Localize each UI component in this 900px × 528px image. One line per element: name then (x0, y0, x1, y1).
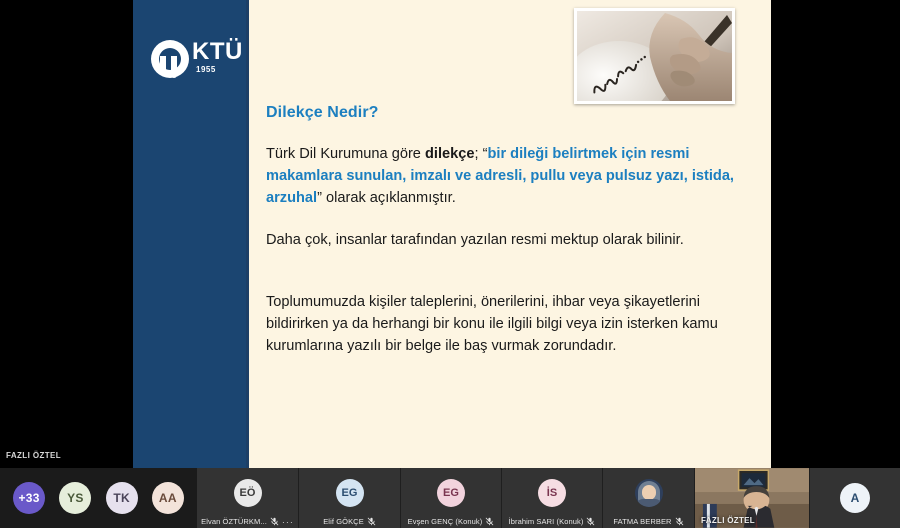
share-presenter-label: FAZLI ÖZTEL (6, 451, 61, 460)
participant-tile-footer: FATMA BERBER (603, 517, 694, 526)
participant-initials-avatar: EÖ (234, 479, 262, 507)
slide-paragraph-1: Türk Dil Kurumuna göre dilekçe; “bir dil… (266, 143, 736, 209)
participant-name: İbrahim SARI (Konuk) (509, 517, 584, 526)
participant-video-tile-fazli-oztel[interactable]: FAZLI ÖZTEL (695, 468, 810, 528)
ktu-logo-icon (151, 40, 189, 78)
ktu-logo-text: KTÜ (192, 38, 243, 66)
participant-tile-trailing[interactable]: A (810, 468, 900, 528)
mic-muted-icon[interactable] (586, 517, 595, 526)
participant-avatar-ys[interactable]: YS (59, 482, 91, 514)
participant-tile-footer: İbrahim SARI (Konuk) (502, 517, 602, 526)
participant-tile-footer: Elvan ÖZTÜRKM...··· (197, 517, 298, 526)
slide-title: Dilekçe Nedir? (266, 104, 379, 122)
slide-paragraph-3: Toplumumuzda kişiler taleplerini, öneril… (266, 291, 736, 357)
participant-initials-avatar: EG (336, 479, 364, 507)
participant-avatar-tk[interactable]: TK (106, 482, 138, 514)
mic-muted-icon[interactable] (367, 517, 376, 526)
participant-avatar-a: A (840, 483, 870, 513)
participant-tile-footer: Evşen GENÇ (Konuk) (401, 517, 501, 526)
para1-bold-term: dilekçe (425, 146, 475, 162)
participant-tile-4[interactable]: İSİbrahim SARI (Konuk) (502, 468, 603, 528)
slide-content: Dilekçe Nedir? Türk Dil Kurumuna göre di… (266, 0, 771, 468)
more-options-icon[interactable]: ··· (282, 518, 294, 526)
shared-screen-stage[interactable]: KTÜ 1955 (0, 0, 900, 468)
participant-tile-footer: Elif GÖKÇE (299, 517, 400, 526)
participant-name: Elif GÖKÇE (323, 517, 364, 526)
participant-tiles: EÖElvan ÖZTÜRKM...···EGElif GÖKÇEEGEvşen… (197, 468, 810, 528)
mic-muted-icon[interactable] (270, 517, 279, 526)
participant-name: Evşen GENÇ (Konuk) (408, 517, 483, 526)
para1-closing: ” olarak açıklanmıştır. (317, 190, 456, 206)
mic-muted-icon[interactable] (675, 517, 684, 526)
para1-lead: Türk Dil Kurumuna göre (266, 146, 425, 162)
video-tile-name: FAZLI ÖZTEL (701, 516, 755, 525)
participant-tile-3[interactable]: EGEvşen GENÇ (Konuk) (401, 468, 502, 528)
overflow-participants-group[interactable]: +33YSTKAA (0, 468, 197, 528)
participant-tile-2[interactable]: EGElif GÖKÇE (299, 468, 401, 528)
participant-avatar-aa[interactable]: AA (152, 482, 184, 514)
mic-muted-icon[interactable] (485, 517, 494, 526)
presentation-slide: KTÜ 1955 (133, 0, 771, 468)
participant-initials-avatar: EG (437, 479, 465, 507)
overflow-count-avatar[interactable]: +33 (13, 482, 45, 514)
ktu-logo-year: 1955 (196, 65, 216, 74)
participant-tile-5[interactable]: FATMA BERBER (603, 468, 695, 528)
ktu-logo: KTÜ 1955 (151, 38, 237, 84)
para1-after-term: ; “ (474, 146, 487, 162)
participant-filmstrip[interactable]: +33YSTKAA EÖElvan ÖZTÜRKM...···EGElif GÖ… (0, 468, 900, 528)
participant-name: Elvan ÖZTÜRKM... (201, 517, 267, 526)
participant-photo-avatar (635, 479, 663, 507)
slide-sidebar-edge (246, 0, 249, 468)
slide-paragraph-2: Daha çok, insanlar tarafından yazılan re… (266, 229, 736, 251)
participant-tile-1[interactable]: EÖElvan ÖZTÜRKM...··· (197, 468, 299, 528)
participant-initials-avatar: İS (538, 479, 566, 507)
participant-name: FATMA BERBER (613, 517, 671, 526)
